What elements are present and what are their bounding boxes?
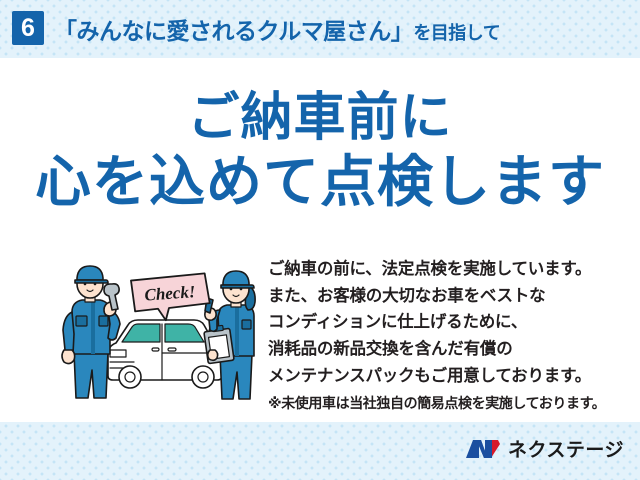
promo-page: 6 「みんなに愛されるクルマ屋さん」 を目指して ご納車前に 心を込めて点検しま… (0, 0, 640, 480)
check-bubble-label: Check! (144, 282, 196, 305)
description-line: コンディションに仕上げるために、 (268, 309, 628, 336)
header-title-quoted: 「みんなに愛されるクルマ屋さん」 (54, 12, 413, 46)
nextage-logo-icon (465, 437, 501, 461)
description-note: ※未使用車は当社独自の簡易点検を実施しております。 (268, 392, 628, 414)
inspection-van (108, 320, 222, 388)
page-header: 6 「みんなに愛されるクルマ屋さん」 を目指して (0, 0, 640, 58)
content-panel: ご納車前に 心を込めて点検します ご納車の前に、法定点検を実施しています。 また… (0, 58, 640, 422)
header-title-suffix: を目指して (413, 19, 500, 45)
check-speech-bubble: Check! (131, 273, 211, 322)
page-footer: ネクステージ (0, 422, 640, 480)
description-line: ご納車の前に、法定点検を実施しています。 (268, 256, 628, 283)
description-line: また、お客様の大切なお車をベストな (268, 283, 628, 310)
description-line: 消耗品の新品交換を含んだ有償の (268, 336, 628, 363)
description-line: メンテナンスパックもご用意しております。 (268, 363, 628, 390)
headline-line-1: ご納車前に (0, 92, 640, 144)
description-block: ご納車の前に、法定点検を実施しています。 また、お客様の大切なお車をベストな コ… (268, 256, 628, 414)
header-title: 「みんなに愛されるクルマ屋さん」 を目指して (54, 12, 500, 46)
page-title: ご納車前に 心を込めて点検します (0, 92, 640, 210)
headline-line-2: 心を込めて点検します (0, 154, 640, 210)
mechanics-illustration: .ol{fill:none;stroke:#1a1a1a;stroke-widt… (60, 258, 260, 403)
section-number-badge: 6 (12, 11, 44, 45)
brand-name: ネクステージ (508, 435, 624, 462)
brand-logo: ネクステージ (465, 435, 624, 462)
section-number: 6 (21, 16, 35, 41)
